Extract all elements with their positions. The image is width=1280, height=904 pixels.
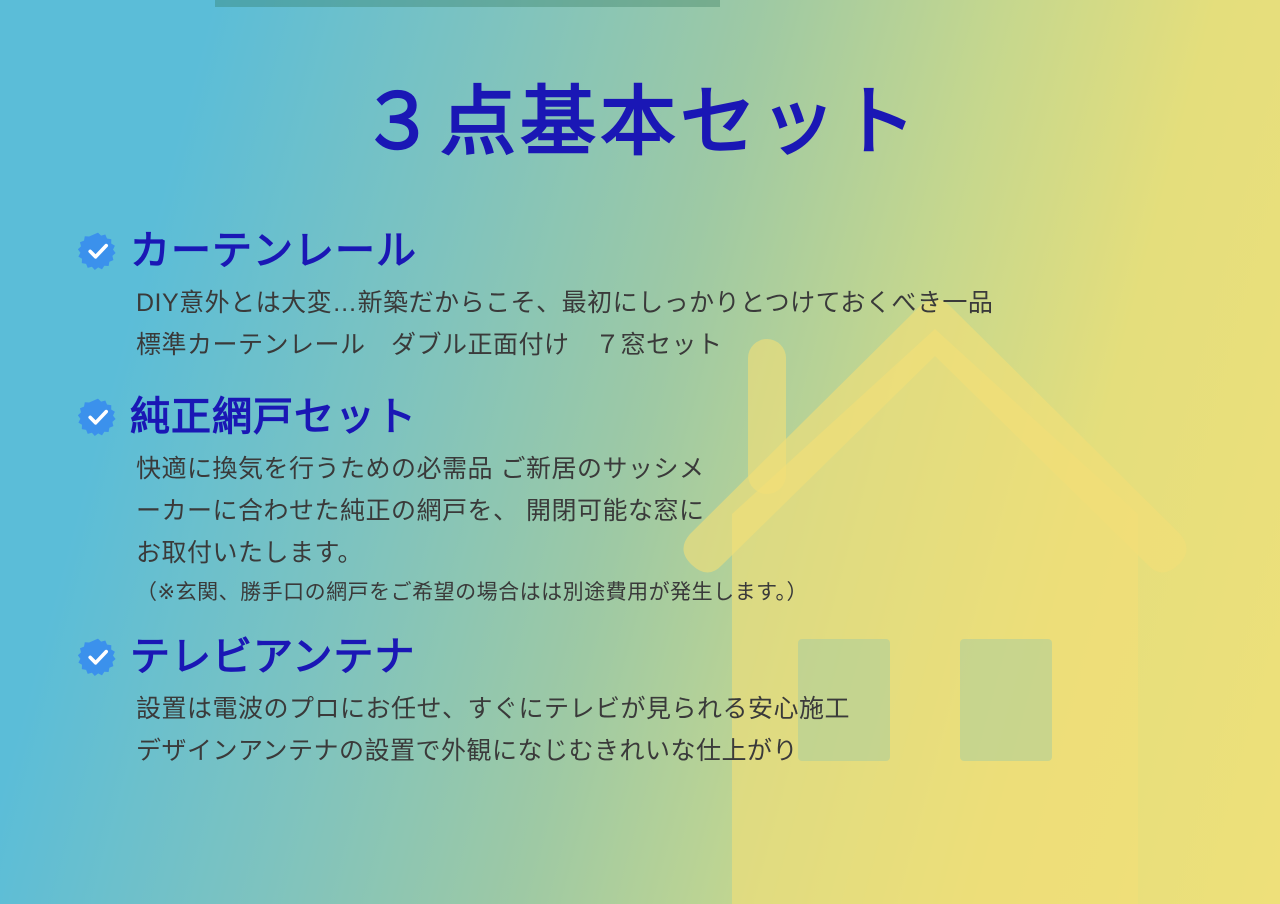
- feature-item-tv-antenna: テレビアンテナ 設置は電波のプロにお任せ、すぐにテレビが見られる安心施工 デザイ…: [78, 632, 1258, 772]
- feature-line: デザインアンテナの設置で外観になじむきれいな仕上がり: [136, 730, 1258, 772]
- feature-heading: カーテンレール: [78, 226, 1258, 276]
- check-badge-icon: [78, 231, 118, 271]
- feature-line: お取付いたします。: [136, 532, 1258, 574]
- feature-body: 設置は電波のプロにお任せ、すぐにテレビが見られる安心施工 デザインアンテナの設置…: [136, 688, 1258, 772]
- feature-title: 純正網戸セット: [130, 397, 417, 437]
- feature-title: テレビアンテナ: [130, 637, 415, 677]
- check-badge-icon: [78, 397, 118, 437]
- feature-body: DIY意外とは大変…新築だからこそ、最初にしっかりとつけておくべき一品 標準カー…: [136, 282, 1258, 366]
- feature-item-curtain-rail: カーテンレール DIY意外とは大変…新築だからこそ、最初にしっかりとつけておくべ…: [78, 226, 1258, 366]
- feature-title: カーテンレール: [130, 231, 417, 271]
- feature-line: DIY意外とは大変…新築だからこそ、最初にしっかりとつけておくべき一品: [136, 282, 1258, 324]
- feature-note: （※玄関、勝手口の網戸をご希望の場合はは別途費用が発生します。）: [136, 574, 1258, 612]
- slide-content: ３点基本セット カーテンレール DIY意外とは大変…新築だからこそ、最初にしっか…: [0, 0, 1280, 904]
- feature-line: 標準カーテンレール ダブル正面付け ７窓セット: [136, 324, 1258, 366]
- check-badge-icon: [78, 637, 118, 677]
- feature-item-screen-door: 純正網戸セット 快適に換気を行うための必需品 ご新居のサッシメ ーカーに合わせた…: [78, 392, 1258, 612]
- feature-line: 設置は電波のプロにお任せ、すぐにテレビが見られる安心施工: [136, 688, 1258, 730]
- slide-canvas: ３点基本セット カーテンレール DIY意外とは大変…新築だからこそ、最初にしっか…: [0, 0, 1280, 904]
- feature-body: 快適に換気を行うための必需品 ご新居のサッシメ ーカーに合わせた純正の網戸を、 …: [136, 448, 1258, 612]
- feature-heading: 純正網戸セット: [78, 392, 1258, 442]
- feature-line: ーカーに合わせた純正の網戸を、 開閉可能な窓に: [136, 490, 1258, 532]
- page-title: ３点基本セット: [0, 85, 1280, 161]
- feature-line: 快適に換気を行うための必需品 ご新居のサッシメ: [136, 448, 1258, 490]
- feature-heading: テレビアンテナ: [78, 632, 1258, 682]
